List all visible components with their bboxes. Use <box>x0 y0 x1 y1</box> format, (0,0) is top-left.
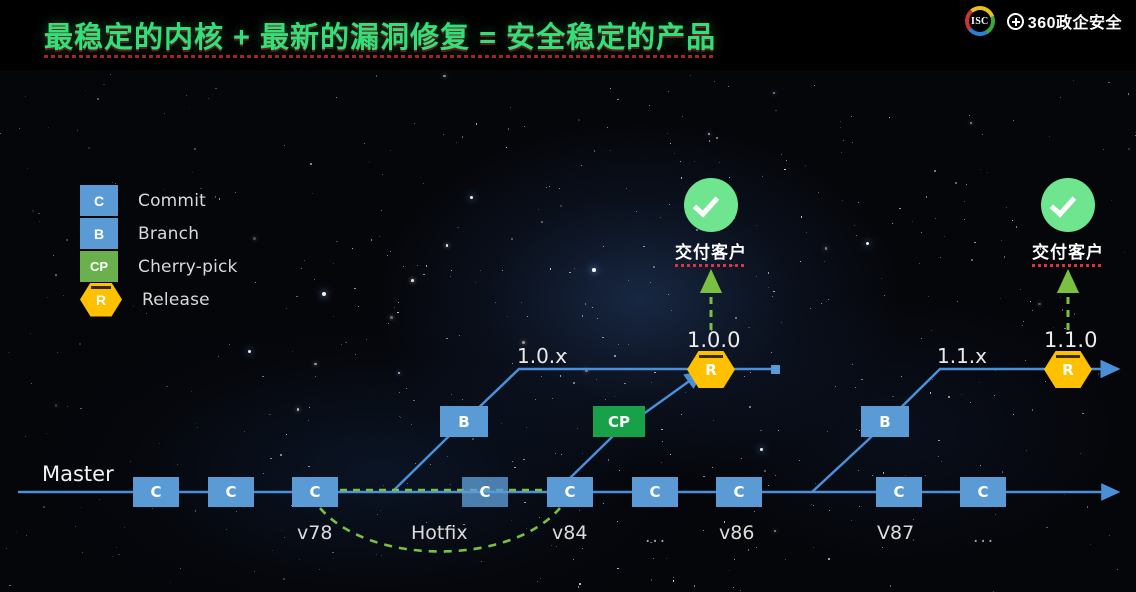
legend-chip-cherry-pick-symbol: CP <box>90 259 108 274</box>
delivery-label-1: 交付客户 <box>675 238 747 267</box>
plus-circle-icon <box>1007 13 1024 30</box>
branch-node-1-0-x-symbol: B <box>458 413 469 431</box>
commit-node-1-symbol: C <box>150 483 161 501</box>
release-hexagon-icon: R <box>80 283 122 317</box>
branch-node-1-1-x-symbol: B <box>879 413 890 431</box>
master-label: Master <box>42 462 114 486</box>
cherry-pick-node[interactable]: CP <box>593 406 645 437</box>
commit-caption-v86: v86 <box>719 522 754 544</box>
legend-label-release: Release <box>142 290 210 310</box>
legend-item-cherry-pick: CP Cherry-pick <box>80 250 238 283</box>
delivery-group-1: 交付客户 <box>656 178 766 267</box>
commit-node-2-symbol: C <box>225 483 236 501</box>
commit-node-5[interactable]: C <box>632 477 678 507</box>
release-version-1-0-0: 1.0.0 <box>687 328 740 352</box>
commit-caption-v84: v84 <box>552 522 587 544</box>
title-underline <box>44 55 716 58</box>
commit-node-1[interactable]: C <box>133 477 179 507</box>
branch-node-1-0-x[interactable]: B <box>440 406 488 437</box>
commit-node-v84[interactable]: C <box>547 477 593 507</box>
commit-caption-v87: V87 <box>877 522 914 544</box>
commit-caption-ellipsis-2: ... <box>973 527 995 547</box>
release-node-1-0-0[interactable]: R <box>687 351 735 388</box>
delivery-group-2: 交付客户 <box>1013 178 1123 267</box>
legend-chip-cherry-pick: CP <box>80 251 118 282</box>
commit-caption-ellipsis-1: ... <box>645 527 667 547</box>
branch-node-1-1-x[interactable]: B <box>861 406 909 437</box>
commit-caption-hotfix: Hotfix <box>411 522 468 544</box>
delivery-label-2: 交付客户 <box>1032 238 1104 267</box>
page-title: 最稳定的内核 + 最新的漏洞修复 = 安全稳定的产品 <box>44 14 716 56</box>
legend-chip-release-symbol: R <box>96 292 106 308</box>
legend-chip-release: R <box>80 283 122 317</box>
commit-node-8[interactable]: C <box>960 477 1006 507</box>
commit-node-v86[interactable]: C <box>716 477 762 507</box>
release-node-1-1-0-bar <box>1056 355 1080 358</box>
commit-node-hotfix-symbol: C <box>479 483 490 501</box>
branch-label-1-1-x: 1.1.x <box>937 344 987 368</box>
slide-header: 最稳定的内核 + 最新的漏洞修复 = 安全稳定的产品 ISC 360政企安全 <box>0 0 1136 70</box>
legend-chip-branch-symbol: B <box>94 226 104 242</box>
commit-node-v86-symbol: C <box>733 483 744 501</box>
check-circle-icon-1 <box>684 178 738 232</box>
brand-logos: ISC 360政企安全 <box>965 4 1122 38</box>
legend-item-branch: B Branch <box>80 217 238 250</box>
legend-label-commit: Commit <box>138 191 206 211</box>
legend-chip-commit: C <box>80 185 118 216</box>
page-title-text: 最稳定的内核 + 最新的漏洞修复 = 安全稳定的产品 <box>44 22 716 54</box>
release-version-1-1-0: 1.1.0 <box>1044 328 1097 352</box>
legend-item-release: R Release <box>80 283 238 316</box>
release-node-1-0-0-symbol: R <box>705 361 717 379</box>
delivery-label-1-text: 交付客户 <box>675 243 747 262</box>
branch-1-0-x-endpoint <box>771 365 780 374</box>
commit-node-v78[interactable]: C <box>292 477 338 507</box>
delivery-label-2-underline <box>1032 264 1104 267</box>
legend-label-cherry-pick: Cherry-pick <box>138 257 238 277</box>
commit-node-v84-symbol: C <box>564 483 575 501</box>
commit-node-v78-symbol: C <box>309 483 320 501</box>
release-node-1-1-0[interactable]: R <box>1044 351 1092 388</box>
isc-logo-icon: ISC <box>965 6 995 36</box>
company-logo: 360政企安全 <box>1007 9 1122 33</box>
legend: C Commit B Branch CP Cherry-pick R <box>80 184 238 316</box>
branch-label-1-0-x: 1.0.x <box>517 344 567 368</box>
cherry-pick-node-symbol: CP <box>608 413 630 431</box>
commit-node-8-symbol: C <box>977 483 988 501</box>
commit-node-hotfix[interactable]: C <box>462 477 508 507</box>
release-node-1-0-0-bar <box>699 355 723 358</box>
legend-label-branch: Branch <box>138 224 199 244</box>
legend-chip-branch: B <box>80 218 118 249</box>
isc-logo-label: ISC <box>971 16 989 27</box>
delivery-label-2-text: 交付客户 <box>1032 243 1104 262</box>
legend-chip-commit-symbol: C <box>94 193 104 209</box>
commit-node-2[interactable]: C <box>208 477 254 507</box>
check-circle-icon-2 <box>1041 178 1095 232</box>
commit-node-v87[interactable]: C <box>876 477 922 507</box>
legend-item-commit: C Commit <box>80 184 238 217</box>
slide-canvas: 最稳定的内核 + 最新的漏洞修复 = 安全稳定的产品 ISC 360政企安全 C… <box>0 0 1136 592</box>
commit-caption-v78: v78 <box>297 522 332 544</box>
company-logo-label: 360政企安全 <box>1028 9 1122 33</box>
release-hexagon-bar <box>91 286 111 289</box>
commit-node-v87-symbol: C <box>893 483 904 501</box>
delivery-label-1-underline <box>675 264 747 267</box>
commit-node-5-symbol: C <box>649 483 660 501</box>
release-node-1-1-0-symbol: R <box>1062 361 1074 379</box>
